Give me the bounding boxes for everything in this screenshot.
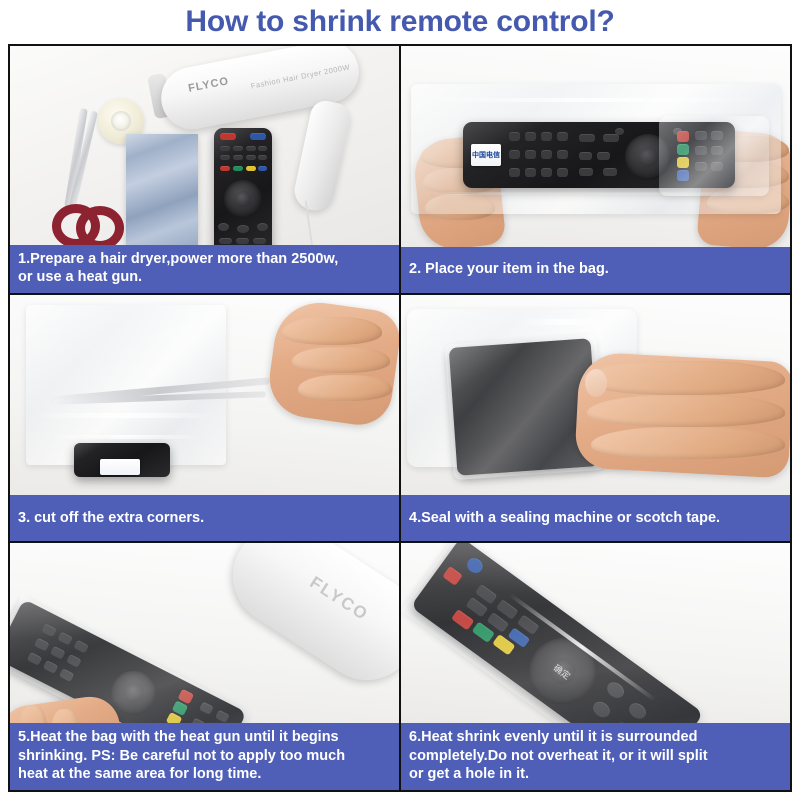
step-photo-4 <box>401 295 790 496</box>
remote-color-button-red <box>220 166 230 171</box>
remote-button <box>257 223 268 231</box>
step-cell-2: 中国电信 <box>401 46 790 293</box>
remote-control <box>214 128 272 245</box>
bag-crease <box>521 319 611 325</box>
caption-line: or get a hole in it. <box>409 765 782 784</box>
remote-button <box>246 146 256 151</box>
remote-button <box>615 128 624 135</box>
hair-dryer-cord <box>305 192 378 244</box>
scissors-handle-right <box>76 206 124 245</box>
remote-button <box>236 238 249 244</box>
remote-button <box>541 132 552 141</box>
step-caption-1: 1.Prepare a hair dryer,power more than 2… <box>10 245 399 293</box>
remote-button <box>541 150 552 159</box>
finger <box>583 361 785 395</box>
remote-button <box>509 150 520 159</box>
bag-overlay <box>659 116 769 196</box>
remote-power-button <box>220 133 236 140</box>
remote-button <box>557 150 568 159</box>
step-photo-3 <box>10 295 399 496</box>
step-cell-5: FLYCO 5.Heat the bag with the heat gun u… <box>10 543 399 790</box>
tape-roll-core <box>111 111 131 131</box>
remote-button <box>258 146 267 151</box>
step-caption-5: 5.Heat the bag with the heat gun until i… <box>10 723 399 790</box>
remote-button <box>525 168 536 177</box>
remote-sticker: 中国电信 <box>471 144 501 166</box>
caption-line: completely.Do not overheat it, or it wil… <box>409 747 782 766</box>
remote-button <box>233 146 243 151</box>
remote-button <box>246 155 256 160</box>
step-photo-6: 确定 <box>401 543 790 723</box>
finger <box>587 395 785 427</box>
remote-dpad-center <box>235 191 251 207</box>
infographic-page: How to shrink remote control? FLYCO Fash… <box>0 0 800 800</box>
bag-crease <box>50 435 200 439</box>
remote-button <box>557 132 568 141</box>
remote-button <box>220 146 230 151</box>
caption-line: shrinking. PS: Be careful not to apply t… <box>18 747 391 766</box>
remote-button <box>509 168 520 177</box>
remote-button <box>603 168 617 176</box>
remote-color-button-blue <box>258 166 267 171</box>
page-title: How to shrink remote control? <box>185 5 614 39</box>
step-cell-3: 3. cut off the extra corners. <box>10 295 399 542</box>
remote-button <box>509 132 520 141</box>
remote-control <box>74 443 170 477</box>
finger <box>591 427 785 459</box>
remote-color-button-yellow <box>246 166 256 171</box>
remote-dpad-center <box>638 147 658 167</box>
page-title-bar: How to shrink remote control? <box>0 0 800 44</box>
step-photo-5: FLYCO <box>10 543 399 723</box>
remote-button <box>579 134 595 142</box>
bag-crease <box>34 413 214 418</box>
step-cell-1: FLYCO Fashion Hair Dryer 2000W <box>10 46 399 293</box>
remote-button <box>597 152 610 160</box>
step-cell-4: 4.Seal with a sealing machine or scotch … <box>401 295 790 542</box>
remote-button <box>258 155 267 160</box>
fingernail <box>585 369 607 397</box>
remote-button <box>541 168 552 177</box>
step-caption-2: 2. Place your item in the bag. <box>401 247 790 293</box>
caption-line: 4.Seal with a sealing machine or scotch … <box>409 509 720 528</box>
step-photo-1: FLYCO Fashion Hair Dryer 2000W <box>10 46 399 245</box>
remote-tv-button <box>250 133 266 140</box>
remote-button <box>219 238 232 244</box>
caption-line: 1.Prepare a hair dryer,power more than 2… <box>18 250 391 269</box>
remote-button <box>579 152 592 160</box>
remote-sticker <box>100 459 140 475</box>
remote-color-button-green <box>233 166 243 171</box>
step-photo-2: 中国电信 <box>401 46 790 247</box>
step-caption-6: 6.Heat shrink evenly until it is surroun… <box>401 723 790 790</box>
remote-button <box>603 134 619 142</box>
remote-button <box>253 238 266 244</box>
remote-button <box>233 155 243 160</box>
finger <box>282 317 382 345</box>
remote-button <box>557 168 568 177</box>
caption-line: 6.Heat shrink evenly until it is surroun… <box>409 728 782 747</box>
step-caption-3: 3. cut off the extra corners. <box>10 495 399 541</box>
caption-line: or use a heat gun. <box>18 268 391 287</box>
remote-button <box>525 150 536 159</box>
caption-line: heat at the same area for long time. <box>18 765 391 784</box>
remote-button <box>237 225 249 233</box>
finger <box>292 347 390 373</box>
shrink-bag <box>126 134 198 245</box>
remote-button <box>525 132 536 141</box>
caption-line: 3. cut off the extra corners. <box>18 509 204 528</box>
steps-grid: FLYCO Fashion Hair Dryer 2000W <box>8 44 792 792</box>
finger <box>298 375 392 401</box>
remote-button <box>579 168 593 176</box>
step-caption-4: 4.Seal with a sealing machine or scotch … <box>401 495 790 541</box>
remote-button <box>220 155 230 160</box>
step-cell-6: 确定 6.Heat shrink evenly until it is surr… <box>401 543 790 790</box>
caption-line: 5.Heat the bag with the heat gun until i… <box>18 728 391 747</box>
bag-crease <box>421 98 761 102</box>
remote-button <box>218 223 229 231</box>
caption-line: 2. Place your item in the bag. <box>409 260 609 279</box>
